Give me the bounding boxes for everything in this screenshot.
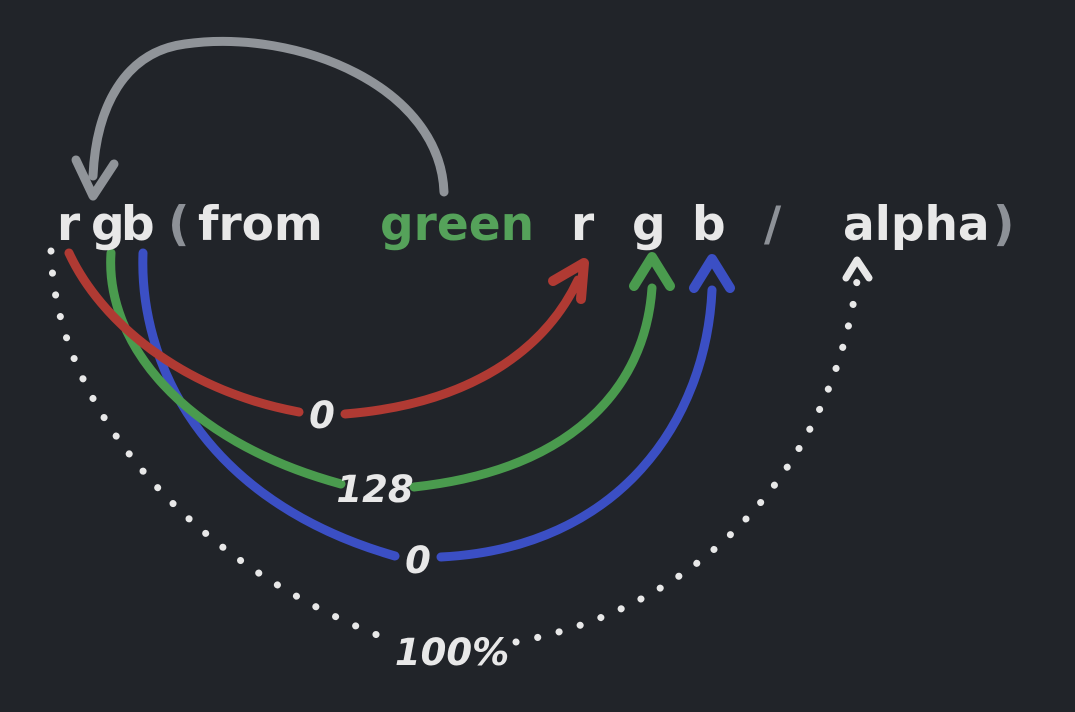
token-color-keyword-green[interactable]: green [380,197,534,252]
token-from-keyword[interactable]: from [198,197,323,252]
red-value-label: 0 [309,394,335,437]
code-line: r g b ( from green r g b / alpha ) [57,197,1014,252]
blue-arrow-head-icon [694,259,730,288]
token-slash: / [764,197,782,252]
token-channel-out-b[interactable]: b [121,197,155,252]
gray-arrow-curve [93,41,444,192]
green-value-label: 128 [336,468,413,511]
red-curve-left [69,253,299,412]
alpha-arrow-head-icon [846,260,869,278]
token-paren-open: ( [168,197,189,252]
token-channel-in-g[interactable]: g [632,197,666,252]
green-arrow-head-icon [634,257,670,286]
token-channel-out-g[interactable]: g [91,197,125,252]
blue-curve-right [441,290,712,557]
token-channel-in-b[interactable]: b [692,197,726,252]
relative-color-syntax-diagram: 100% 0 128 0 r g b ( from [0,0,1075,712]
token-channel-in-r[interactable]: r [571,197,595,252]
token-alpha-keyword[interactable]: alpha [843,197,990,252]
alpha-dotted-curve-right [516,281,857,642]
alpha-channel-annotation: 100% [51,251,869,674]
blue-channel-annotation: 0 [143,253,730,582]
gray-origin-arrow [76,41,444,196]
red-curve-right [345,280,578,414]
alpha-value-label: 100% [395,631,509,674]
token-channel-out-r[interactable]: r [57,197,81,252]
diagram-canvas: 100% 0 128 0 r g b ( from [0,0,1075,712]
token-paren-close: ) [993,197,1014,252]
blue-value-label: 0 [405,539,431,582]
